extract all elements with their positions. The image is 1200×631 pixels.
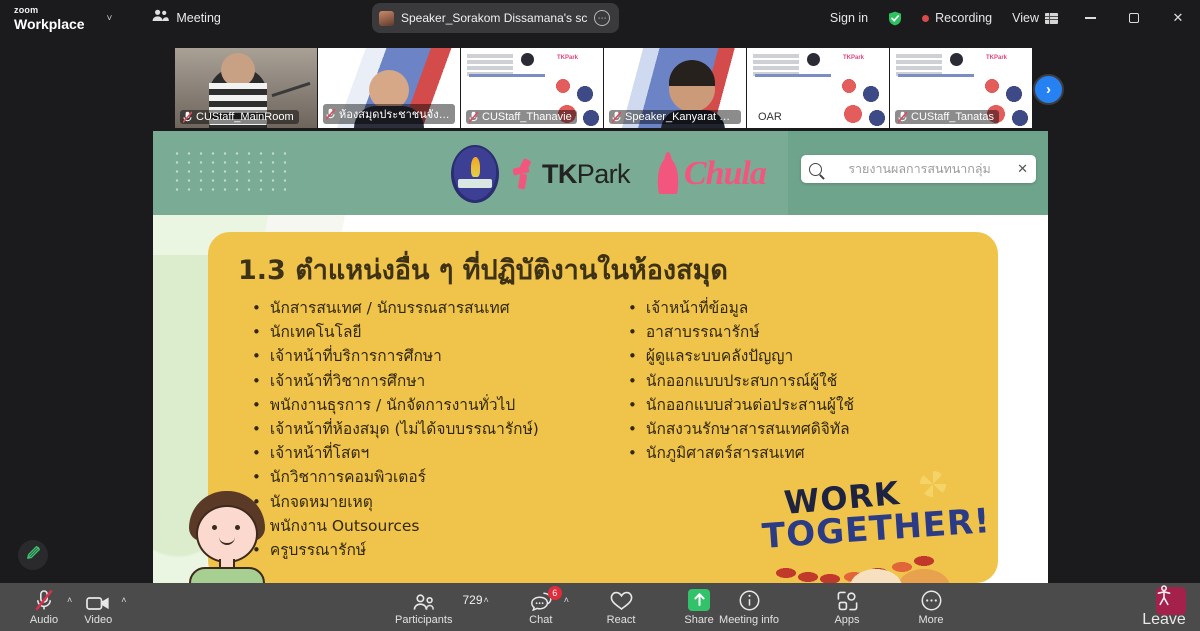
bullet-icon: • (628, 320, 637, 344)
list-item: •นักสงวนรักษาสารสนเทศดิจิทัล (628, 417, 978, 441)
recording-indicator[interactable]: Recording (912, 0, 1002, 36)
share-screen-icon (688, 589, 710, 611)
list-item: •นักภูมิศาสตร์สารสนเทศ (628, 441, 978, 465)
layout-icon (1045, 13, 1058, 24)
pencil-icon (26, 545, 41, 565)
video-thumbnail[interactable]: ห้องสมุดประชาชนจังหวัด... (318, 48, 460, 128)
microphone-muted-icon (898, 111, 907, 123)
audio-button[interactable]: Audio (22, 583, 66, 631)
tab-meeting[interactable]: Meeting (142, 4, 230, 32)
chat-button[interactable]: 6 Chat (519, 583, 563, 631)
chula-pagoda-icon (656, 154, 680, 194)
list-item-label: พนักงานธุรการ / นักจัดการงานทั่วไป (270, 393, 515, 417)
participant-name-tag: ห้องสมุดประชาชนจังหวัด... (323, 104, 455, 124)
participant-name: ห้องสมุดประชาชนจังหวัด... (339, 105, 450, 123)
microphone-muted-icon (183, 111, 192, 123)
tkpark-logo-tk: TK (542, 159, 577, 189)
heart-icon (610, 589, 633, 611)
recording-dot-icon (922, 15, 929, 22)
list-item: •เจ้าหน้าที่บริการการศึกษา (252, 344, 602, 368)
restore-icon (1129, 13, 1139, 23)
list-item: •พนักงาน Outsources (252, 514, 602, 538)
list-item-label: นักเทคโนโลยี (270, 320, 362, 344)
hands-decoration (850, 567, 950, 583)
more-icon (921, 589, 942, 611)
list-item: •นักเทคโนโลยี (252, 320, 602, 344)
sparkle-decoration-icon (920, 471, 946, 497)
zoom-brand: zoom Workplace (14, 6, 85, 31)
tkpark-logo: TKPark (513, 159, 630, 190)
speaker-avatar (379, 11, 394, 26)
list-item: •นักจดหมายเหตุ (252, 490, 602, 514)
close-icon: ✕ (1173, 10, 1184, 26)
apps-button[interactable]: Apps (825, 583, 869, 631)
list-item: •นักวิชาการคอมพิวเตอร์ (252, 465, 602, 489)
list-item: •ครูบรรณารักษ์ (252, 538, 602, 562)
bullet-icon: • (252, 369, 261, 393)
list-item-label: นักภูมิศาสตร์สารสนเทศ (646, 441, 805, 465)
video-thumbnail-strip: CUStaff_MainRoom ห้องสมุดประชาชนจังหวัด.… (175, 48, 1030, 128)
list-item-label: เจ้าหน้าที่ห้องสมุด (ไม่ได้จบบรรณารักษ์) (270, 417, 539, 441)
leave-label: Leave (1142, 611, 1186, 629)
share-label: Share (684, 614, 713, 626)
tab-more-icon[interactable]: ⋯ (594, 10, 610, 26)
shield-check-icon (888, 11, 902, 26)
list-item: •นักออกแบบส่วนต่อประสานผู้ใช้ (628, 393, 978, 417)
participants-options-caret[interactable]: ˄ (484, 595, 489, 605)
bullet-icon: • (628, 369, 637, 393)
slide-title: 1.3 ตำแหน่งอื่น ๆ ที่ปฏิบัติงานในห้องสมุ… (238, 248, 968, 291)
bullet-icon: • (628, 344, 637, 368)
chevron-right-icon: › (1046, 81, 1051, 98)
list-item: •นักสารสนเทศ / นักบรรณสารสนเทศ (252, 296, 602, 320)
list-item: •ผู้ดูแลระบบคลังปัญญา (628, 344, 978, 368)
list-item-label: เจ้าหน้าที่บริการการศึกษา (270, 344, 442, 368)
list-item-label: นักจดหมายเหตุ (270, 490, 373, 514)
chat-options-caret[interactable]: ˄ (564, 595, 569, 605)
microphone-muted-icon (612, 111, 621, 123)
participant-name: OAR (758, 111, 782, 123)
bullet-icon: • (252, 344, 261, 368)
bullet-icon: • (252, 320, 261, 344)
list-item: •เจ้าหน้าที่ข้อมูล (628, 296, 978, 320)
bullet-icon: • (628, 393, 637, 417)
title-bar: zoom Workplace ˅ Meeting Speaker_Sorakom… (0, 0, 1200, 36)
participant-name-tag: OAR (752, 110, 788, 124)
participant-name: CUStaff_Tanatas (911, 111, 994, 123)
apps-label: Apps (834, 614, 859, 626)
list-item-label: พนักงาน Outsources (270, 514, 420, 538)
list-item: •เจ้าหน้าที่วิชาการศึกษา (252, 369, 602, 393)
tab-meeting-label: Meeting (176, 11, 220, 25)
search-icon (809, 163, 822, 176)
video-thumbnail[interactable]: Speaker_Kanyarat Kw... (604, 48, 746, 128)
bullet-icon: • (252, 296, 261, 320)
view-label: View (1012, 11, 1039, 25)
info-icon (739, 589, 760, 611)
shared-screen-stage: TKPark Chula รายงานผลการสนทนากลุ่ม ✕ 1.3… (0, 131, 1200, 583)
recording-label: Recording (935, 11, 992, 25)
window-restore-button[interactable] (1112, 0, 1156, 36)
react-label: React (607, 614, 636, 626)
participants-label: Participants (395, 614, 452, 626)
people-icon (152, 9, 169, 27)
camera-icon (86, 589, 110, 611)
dot-pattern-decoration (171, 149, 286, 197)
more-label: More (918, 614, 943, 626)
video-thumbnail[interactable]: TKPark CUStaff_Thanavie (461, 48, 603, 128)
more-button[interactable]: More (909, 583, 953, 631)
list-item-label: นักออกแบบส่วนต่อประสานผู้ใช้ (646, 393, 854, 417)
chat-icon: 6 (530, 589, 552, 611)
toolbar-left-group: Audio ˄ Video ˄ (22, 583, 131, 631)
react-button[interactable]: React (599, 583, 643, 631)
video-thumbnail[interactable]: CUStaff_MainRoom (175, 48, 317, 128)
list-item: •พนักงานธุรการ / นักจัดการงานทั่วไป (252, 393, 602, 417)
slide-logos: TKPark Chula (451, 145, 766, 203)
meeting-toolbar: Audio ˄ Video ˄ Partic (0, 583, 1200, 631)
video-button[interactable]: Video (76, 583, 120, 631)
bullet-icon: • (252, 441, 261, 465)
video-label: Video (84, 614, 112, 626)
list-item: •อาสาบรรณารักษ์ (628, 320, 978, 344)
annotate-button[interactable] (18, 540, 48, 570)
list-item-label: ผู้ดูแลระบบคลังปัญญา (646, 344, 793, 368)
search-input-value[interactable]: รายงานผลการสนทนากลุ่ม (822, 159, 1017, 179)
meeting-info-label: Meeting info (719, 614, 779, 626)
slide-content-card: 1.3 ตำแหน่งอื่น ๆ ที่ปฏิบัติงานในห้องสมุ… (208, 232, 998, 583)
list-item-label: เจ้าหน้าที่ข้อมูล (646, 296, 748, 320)
meeting-info-button[interactable]: Meeting info (713, 583, 785, 631)
list-item: •เจ้าหน้าที่โสตฯ (252, 441, 602, 465)
participants-button[interactable]: Participants (390, 583, 457, 631)
list-item-label: นักวิชาการคอมพิวเตอร์ (270, 465, 426, 489)
list-item-label: เจ้าหน้าที่วิชาการศึกษา (270, 369, 425, 393)
brand-zoom-text: zoom (14, 6, 85, 15)
list-item-label: นักสงวนรักษาสารสนเทศดิจิทัล (646, 417, 850, 441)
window-close-button[interactable]: ✕ (1156, 0, 1200, 36)
minimize-icon (1085, 17, 1096, 18)
sign-in-label: Sign in (830, 11, 868, 25)
toolbar-right-group: Meeting info Apps (713, 583, 953, 631)
apps-icon (837, 589, 858, 611)
tkpark-logo-park: Park (577, 159, 630, 189)
brand-dropdown-caret[interactable]: ˅ (107, 13, 113, 24)
microphone-muted-icon (326, 108, 335, 120)
bullet-list-left: •นักสารสนเทศ / นักบรรณสารสนเทศ •นักเทคโน… (252, 296, 602, 562)
microphone-muted-icon (34, 589, 54, 611)
toolbar-center-group: Participants 729 ˄ 6 Chat ˄ (390, 583, 721, 631)
audio-options-caret[interactable]: ˄ (67, 595, 72, 605)
clear-search-icon[interactable]: ✕ (1017, 161, 1028, 177)
microphone-muted-icon (469, 111, 478, 123)
bullet-icon: • (252, 465, 261, 489)
video-thumbnail[interactable]: TKPark OAR (747, 48, 889, 128)
chula-wordmark-text: Chula (684, 155, 766, 193)
slide-body: 1.3 ตำแหน่งอื่น ๆ ที่ปฏิบัติงานในห้องสมุ… (153, 215, 1048, 583)
chula-wordmark: Chula (656, 154, 766, 194)
filmstrip-next-button[interactable]: › (1033, 74, 1064, 105)
boy-illustration (183, 491, 271, 583)
list-item-label: อาสาบรรณารักษ์ (646, 320, 760, 344)
list-item: •เจ้าหน้าที่ห้องสมุด (ไม่ได้จบบรรณารักษ์… (252, 417, 602, 441)
window-minimize-button[interactable] (1068, 0, 1112, 36)
slide-search-box[interactable]: รายงานผลการสนทนากลุ่ม ✕ (801, 155, 1036, 183)
bullet-icon: • (252, 417, 261, 441)
chula-seal-logo (451, 145, 499, 203)
tab-shared-screen[interactable]: Speaker_Sorakom Dissamana's sc ⋯ (372, 3, 619, 33)
participant-name-tag: CUStaff_MainRoom (180, 110, 299, 124)
participant-name: CUStaff_MainRoom (196, 111, 294, 123)
participant-name-tag: CUStaff_Tanatas (895, 110, 999, 124)
participants-icon (413, 589, 435, 611)
list-item-label: นักสารสนเทศ / นักบรรณสารสนเทศ (270, 296, 510, 320)
participant-name-tag: Speaker_Kanyarat Kw... (609, 110, 741, 124)
participant-name: CUStaff_Thanavie (482, 111, 572, 123)
leave-button[interactable]: Leave (1136, 583, 1192, 631)
shared-slide: TKPark Chula รายงานผลการสนทนากลุ่ม ✕ 1.3… (153, 131, 1048, 583)
chat-label: Chat (529, 614, 552, 626)
list-item-label: ครูบรรณารักษ์ (270, 538, 366, 562)
list-item-label: เจ้าหน้าที่โสตฯ (270, 441, 369, 465)
list-item-label: นักออกแบบประสบการณ์ผู้ใช้ (646, 369, 837, 393)
tkpark-mark-icon (513, 159, 539, 189)
participants-count: 729 (462, 593, 482, 621)
encryption-status[interactable] (878, 0, 912, 36)
leave-icon (1154, 585, 1174, 611)
chat-unread-badge: 6 (548, 586, 562, 600)
tab-shared-screen-label: Speaker_Sorakom Dissamana's sc (401, 11, 587, 25)
video-thumbnail[interactable]: TKPark CUStaff_Tanatas (890, 48, 1032, 128)
bullet-icon: • (252, 393, 261, 417)
bullet-icon: • (628, 441, 637, 465)
sign-in-button[interactable]: Sign in (820, 0, 878, 36)
bullet-icon: • (628, 296, 637, 320)
participant-name: Speaker_Kanyarat Kw... (625, 111, 736, 123)
video-options-caret[interactable]: ˄ (121, 595, 126, 605)
view-button[interactable]: View (1002, 0, 1068, 36)
titlebar-right-controls: Sign in Recording View ✕ (820, 0, 1200, 36)
audio-label: Audio (30, 614, 58, 626)
slide-header: TKPark Chula รายงานผลการสนทนากลุ่ม ✕ (153, 131, 1048, 215)
list-item: •นักออกแบบประสบการณ์ผู้ใช้ (628, 369, 978, 393)
brand-workplace-text: Workplace (14, 17, 85, 31)
bullet-icon: • (628, 417, 637, 441)
participant-name-tag: CUStaff_Thanavie (466, 110, 577, 124)
